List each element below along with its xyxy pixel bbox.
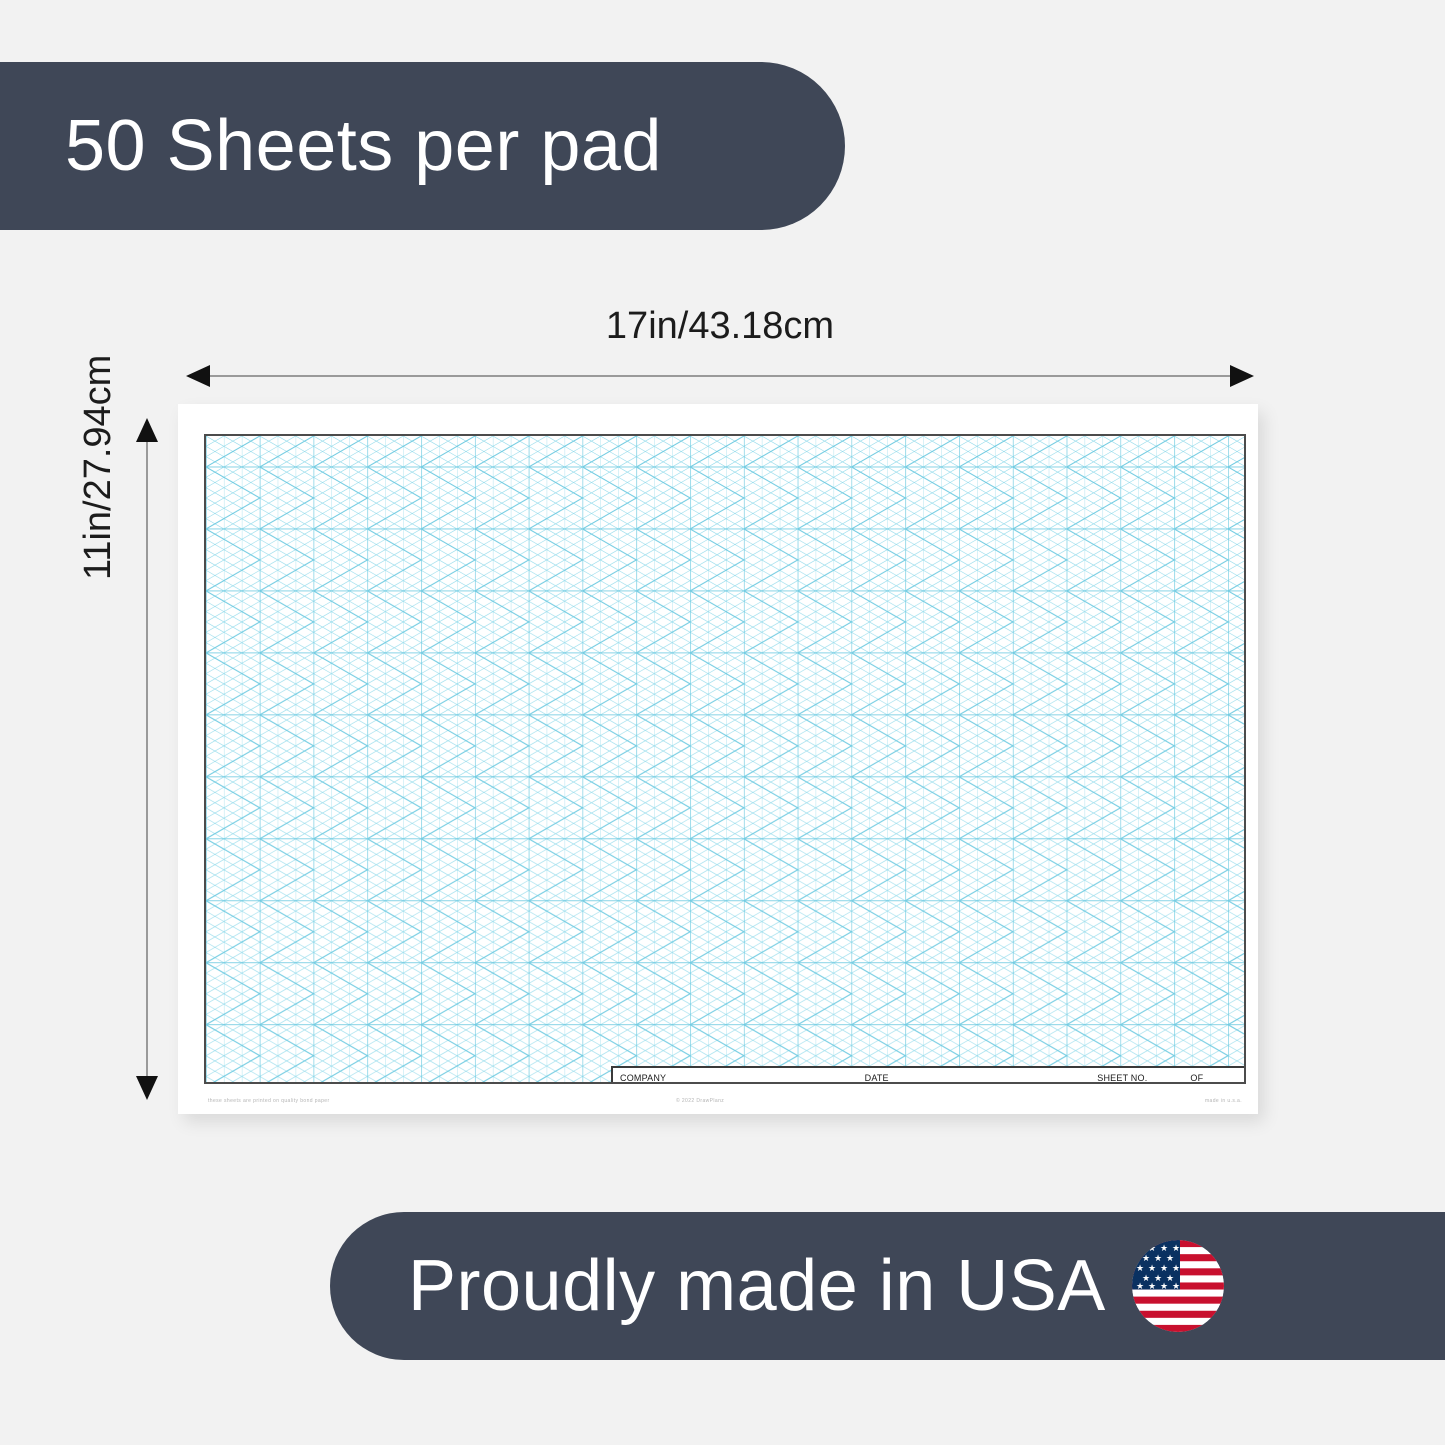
svg-text:★: ★ [1160,1244,1168,1254]
svg-text:★: ★ [1142,1254,1150,1264]
svg-text:★: ★ [1160,1282,1168,1292]
height-dimension-label: 11in/27.94cm [77,355,120,580]
height-dimension-arrow [136,418,158,1100]
svg-text:★: ★ [1136,1282,1144,1292]
width-dimension-arrow [186,365,1254,387]
field-label: DATE [865,1073,889,1083]
usa-flag-circle-icon: ★★★★ ★★★ ★★★★ ★★★ ★★★★ [1132,1240,1224,1332]
field-label-of: OF [1190,1073,1203,1083]
sheets-per-pad-label: 50 Sheets per pad [65,105,662,187]
title-block-field-dwg-no[interactable]: DWG. NO. [865,1083,1093,1084]
title-block-column-date: DATE DWG. NO. DRAWN BY [860,1068,1093,1084]
svg-text:★: ★ [1148,1264,1156,1274]
field-label: SHEET NO. [1097,1073,1147,1083]
title-block-field-company[interactable]: COMPANY [620,1071,860,1083]
arrow-down-icon [136,1076,158,1100]
sheets-per-pad-banner: 50 Sheets per pad [0,62,845,230]
title-block-field-rev[interactable]: REV. [1097,1083,1246,1084]
svg-text:★: ★ [1136,1244,1144,1254]
grid-frame: COMPANY CUSTOMER SUBJECT DATE [204,434,1246,1084]
svg-text:★: ★ [1172,1264,1180,1274]
title-block-column-company: COMPANY CUSTOMER SUBJECT [613,1068,860,1084]
arrow-right-icon [1230,365,1254,387]
dimension-line [208,375,1232,377]
title-block-field-customer[interactable]: CUSTOMER [620,1083,860,1084]
field-rule[interactable] [893,1073,1093,1083]
microprint-left: these sheets are printed on quality bond… [208,1098,330,1104]
isometric-grid [206,436,1244,1082]
title-block: COMPANY CUSTOMER SUBJECT DATE [611,1066,1246,1084]
svg-text:★: ★ [1148,1282,1156,1292]
arrow-left-icon [186,365,210,387]
field-label: COMPANY [620,1073,666,1083]
made-in-usa-banner: Proudly made in USA ★★★★ [330,1212,1445,1360]
graph-paper-sheet: COMPANY CUSTOMER SUBJECT DATE [178,404,1258,1114]
title-block-field-sheet-no[interactable]: SHEET NO. OF [1097,1071,1246,1083]
svg-text:★: ★ [1148,1244,1156,1254]
svg-text:★: ★ [1160,1264,1168,1274]
arrow-up-icon [136,418,158,442]
field-rule-of[interactable] [1207,1073,1245,1083]
field-rule[interactable] [670,1073,859,1083]
svg-text:★: ★ [1166,1254,1174,1264]
dimension-line [146,438,148,1080]
field-rule[interactable] [1151,1073,1185,1083]
svg-text:★: ★ [1172,1244,1180,1254]
svg-text:★: ★ [1172,1282,1180,1292]
svg-text:★: ★ [1136,1264,1144,1274]
microprint-copyright: © 2022 DrawPlanz [676,1098,724,1104]
microprint-right: made in u.s.a. [1205,1098,1242,1104]
title-block-field-date[interactable]: DATE [865,1071,1093,1083]
made-in-usa-label: Proudly made in USA [408,1245,1106,1327]
title-block-column-sheet: SHEET NO. OF REV. OTHER [1092,1068,1246,1084]
svg-text:★: ★ [1154,1254,1162,1264]
width-dimension-label: 17in/43.18cm [186,305,1254,348]
